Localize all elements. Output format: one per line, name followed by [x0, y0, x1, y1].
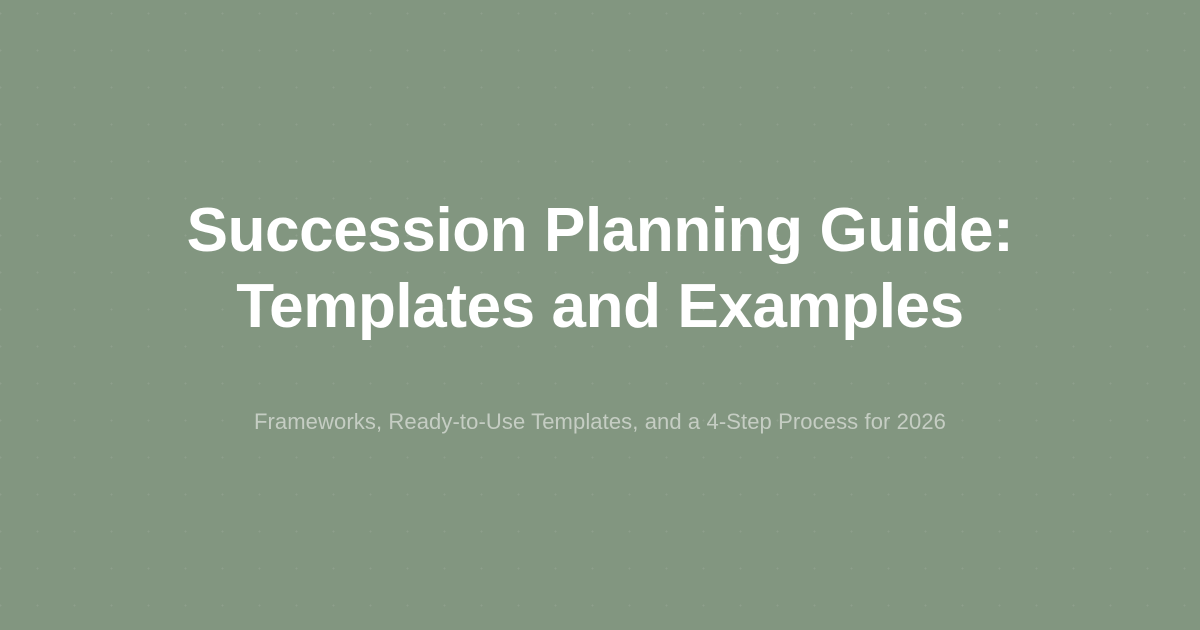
page-title: Succession Planning Guide: Templates and…	[80, 193, 1120, 345]
page-subtitle: Frameworks, Ready-to-Use Templates, and …	[254, 407, 946, 437]
card-content: Succession Planning Guide: Templates and…	[0, 193, 1200, 437]
page-title-line-1: Succession Planning Guide:	[80, 193, 1120, 269]
page-title-line-2: Templates and Examples	[80, 269, 1120, 345]
og-card: Succession Planning Guide: Templates and…	[0, 0, 1200, 630]
